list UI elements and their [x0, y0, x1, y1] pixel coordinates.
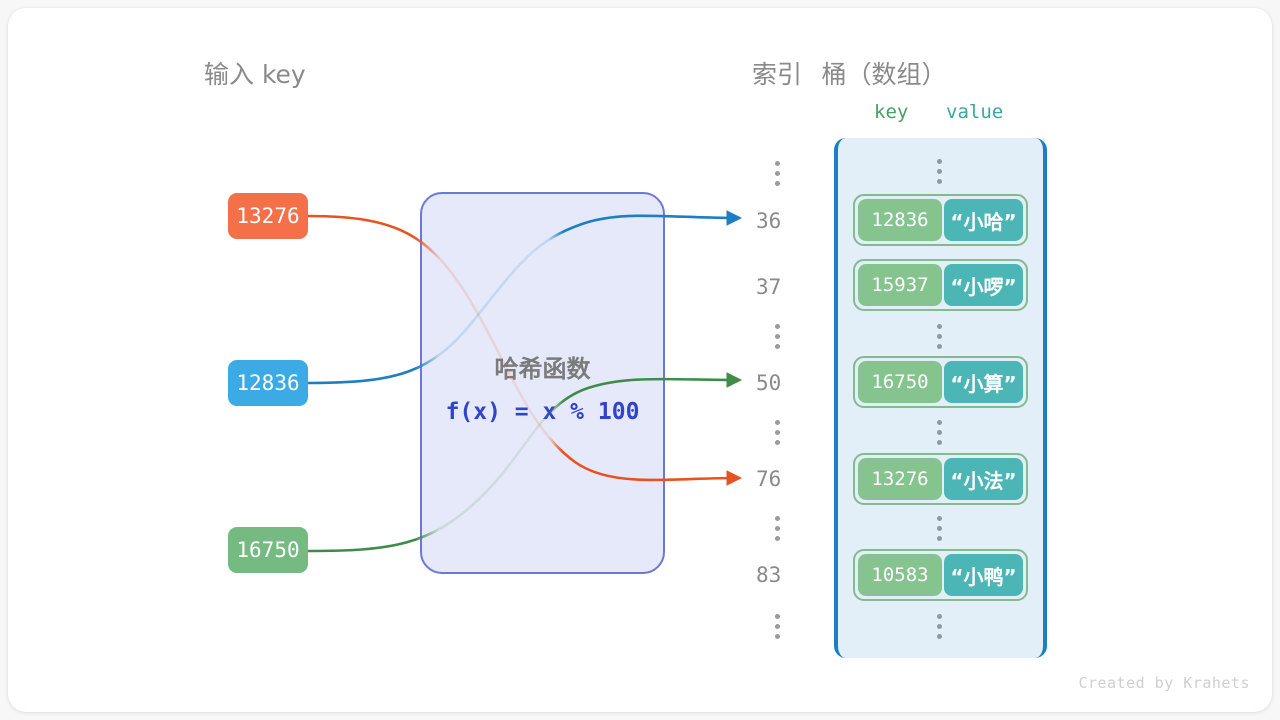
index-label-83: 83 — [756, 563, 806, 587]
bucket-pair-key: 13276 — [858, 458, 942, 500]
bucket-pair-key: 15937 — [858, 264, 942, 306]
heading-input-key: 输入 key — [204, 55, 306, 91]
bucket-pair-value: “小算” — [944, 361, 1023, 403]
index-dots-4 — [775, 614, 780, 639]
bucket-dots-1 — [937, 324, 942, 349]
hash-function-title: 哈希函数 — [422, 349, 663, 384]
index-label-76: 76 — [756, 467, 806, 491]
diagram-canvas: 输入 key 索引 桶（数组） key value 13276 12836 16… — [0, 0, 1280, 720]
input-key-pill-13276: 13276 — [228, 193, 308, 239]
bucket-dots-0 — [937, 159, 942, 184]
hash-function-formula: f(x) = x % 100 — [422, 399, 663, 425]
hash-function-box: 哈希函数 f(x) = x % 100 — [420, 192, 665, 574]
bucket-pair-value: “小哈” — [944, 199, 1023, 241]
subheading-key-column: key — [874, 101, 908, 123]
heading-index: 索引 — [752, 55, 802, 91]
input-key-pill-16750: 16750 — [228, 527, 308, 573]
input-key-pill-12836: 12836 — [228, 360, 308, 406]
bucket-pair-value: “小法” — [944, 458, 1023, 500]
index-label-50: 50 — [756, 371, 806, 395]
heading-bucket-array: 桶（数组） — [821, 55, 946, 91]
bucket-pair-value: “小鸭” — [944, 554, 1023, 596]
bucket-pair-10583: 10583 “小鸭” — [853, 549, 1028, 601]
bucket-pair-key: 10583 — [858, 554, 942, 596]
index-dots-1 — [775, 324, 780, 349]
bucket-pair-16750: 16750 “小算” — [853, 356, 1028, 408]
bucket-pair-value: “小啰” — [944, 264, 1023, 306]
bucket-pair-12836: 12836 “小哈” — [853, 194, 1028, 246]
index-label-36: 36 — [756, 209, 806, 233]
bucket-pair-key: 12836 — [858, 199, 942, 241]
subheading-value-column: value — [946, 101, 1003, 123]
credit-text: Created by Krahets — [1078, 674, 1250, 692]
bucket-dots-4 — [937, 614, 942, 639]
index-dots-3 — [775, 516, 780, 541]
index-label-37: 37 — [756, 275, 806, 299]
bucket-dots-2 — [937, 420, 942, 445]
index-dots-2 — [775, 420, 780, 445]
bucket-pair-key: 16750 — [858, 361, 942, 403]
bucket-pair-13276: 13276 “小法” — [853, 453, 1028, 505]
index-dots-0 — [775, 161, 780, 186]
bucket-pair-15937: 15937 “小啰” — [853, 259, 1028, 311]
bucket-dots-3 — [937, 516, 942, 541]
